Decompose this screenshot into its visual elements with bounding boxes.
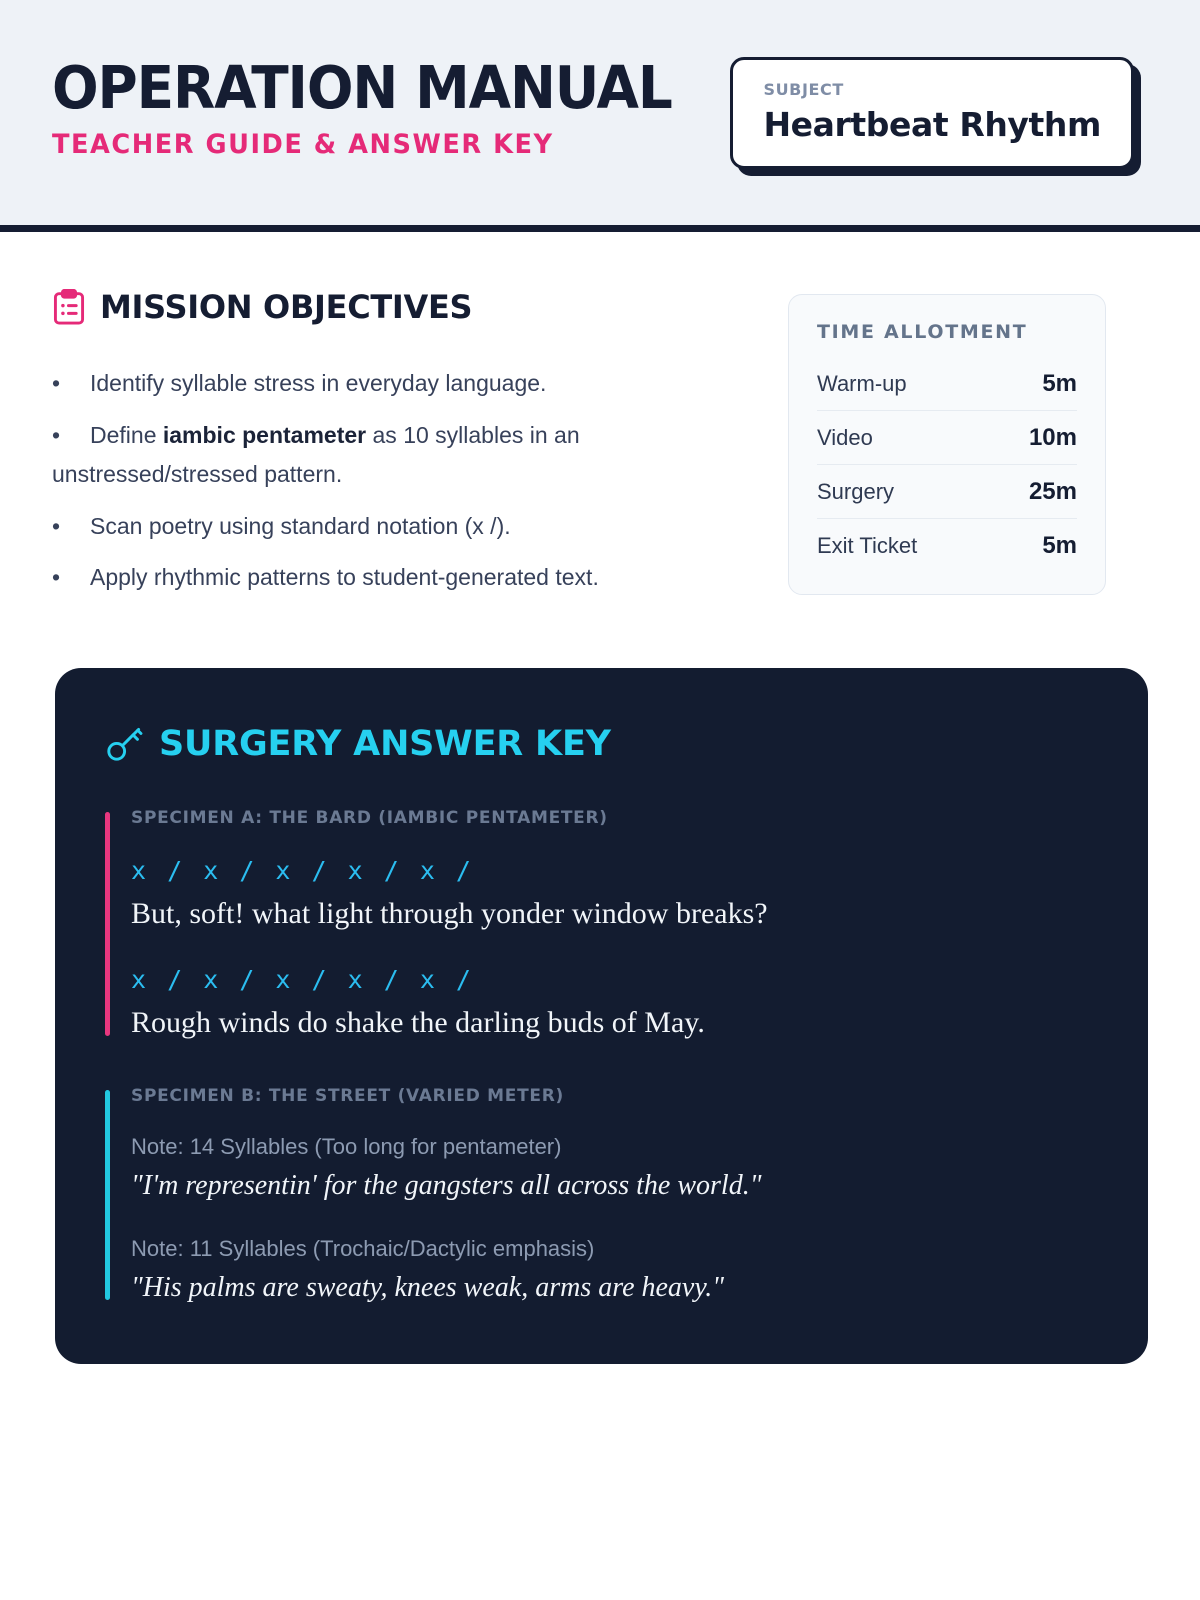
syllable-note: Note: 11 Syllables (Trochaic/Dactylic em… (131, 1236, 1098, 1262)
objective-text-bold: iambic pentameter (163, 422, 366, 448)
time-row-label: Warm-up (817, 371, 907, 397)
scansion-pattern: x / x / x / x / x / (131, 856, 1098, 885)
surgery-answer-key-panel: SURGERY ANSWER KEY SPECIMEN A: THE BARD … (55, 668, 1148, 1364)
specimen-b-label: SPECIMEN B: THE STREET (VARIED METER) (131, 1086, 1098, 1106)
answer-key-heading-row: SURGERY ANSWER KEY (105, 724, 1098, 764)
objective-text: Apply rhythmic patterns to student-gener… (90, 564, 599, 590)
time-row-label: Video (817, 425, 873, 451)
bullet-glyph: • (52, 416, 90, 456)
time-allotment-title: TIME ALLOTMENT (817, 321, 1077, 343)
time-row: Video 10m (817, 411, 1077, 465)
bullet-glyph: • (52, 507, 90, 547)
main-content: MISSION OBJECTIVES •Identify syllable st… (0, 232, 1200, 610)
poem-line: Rough winds do shake the darling buds of… (131, 1006, 1098, 1040)
subject-label: SUBJECT (763, 80, 1101, 99)
time-row: Exit Ticket 5m (817, 519, 1077, 564)
objectives-heading-row: MISSION OBJECTIVES (52, 288, 752, 326)
clipboard-list-icon (52, 289, 86, 325)
bullet-glyph: • (52, 364, 90, 404)
objective-item: •Identify syllable stress in everyday la… (52, 364, 752, 404)
time-row-value: 10m (1029, 424, 1077, 452)
time-allotment-panel: TIME ALLOTMENT Warm-up 5m Video 10m Surg… (788, 294, 1106, 595)
objective-item: •Apply rhythmic patterns to student-gene… (52, 558, 752, 598)
subject-value: Heartbeat Rhythm (763, 105, 1101, 144)
syllable-note: Note: 14 Syllables (Too long for pentame… (131, 1134, 1098, 1160)
time-row: Warm-up 5m (817, 357, 1077, 411)
time-row-value: 5m (1042, 532, 1077, 560)
objectives-section: MISSION OBJECTIVES •Identify syllable st… (52, 288, 752, 610)
answer-key-title: SURGERY ANSWER KEY (159, 724, 611, 764)
objective-text: Identify syllable stress in everyday lan… (90, 370, 546, 396)
time-row-value: 5m (1042, 370, 1077, 398)
time-row-label: Exit Ticket (817, 533, 917, 559)
poem-line: But, soft! what light through yonder win… (131, 897, 1098, 931)
specimen-a-label: SPECIMEN A: THE BARD (IAMBIC PENTAMETER) (131, 808, 1098, 828)
objective-item: •Scan poetry using standard notation (x … (52, 507, 752, 547)
scansion-pattern: x / x / x / x / x / (131, 965, 1098, 994)
objective-item: •Define iambic pentameter as 10 syllable… (52, 416, 752, 495)
objectives-title: MISSION OBJECTIVES (100, 288, 472, 326)
objective-text: Scan poetry using standard notation (x /… (90, 513, 511, 539)
page-title: OPERATION MANUAL (52, 57, 672, 119)
objective-text-pre: Define (90, 422, 163, 448)
specimen-b: SPECIMEN B: THE STREET (VARIED METER) No… (105, 1086, 1098, 1304)
time-row-value: 25m (1029, 478, 1077, 506)
page-header: OPERATION MANUAL TEACHER GUIDE & ANSWER … (0, 0, 1200, 232)
quote-line: "His palms are sweaty, knees weak, arms … (131, 1272, 1098, 1304)
title-block: OPERATION MANUAL TEACHER GUIDE & ANSWER … (52, 57, 718, 168)
bullet-glyph: • (52, 558, 90, 598)
time-row-label: Surgery (817, 479, 894, 505)
key-icon (105, 725, 143, 763)
specimen-a: SPECIMEN A: THE BARD (IAMBIC PENTAMETER)… (105, 808, 1098, 1040)
time-row: Surgery 25m (817, 465, 1077, 519)
quote-line: "I'm representin' for the gangsters all … (131, 1170, 1098, 1202)
objectives-list: •Identify syllable stress in everyday la… (52, 364, 752, 598)
page-subtitle: TEACHER GUIDE & ANSWER KEY (52, 129, 685, 160)
subject-card: SUBJECT Heartbeat Rhythm (730, 57, 1134, 169)
